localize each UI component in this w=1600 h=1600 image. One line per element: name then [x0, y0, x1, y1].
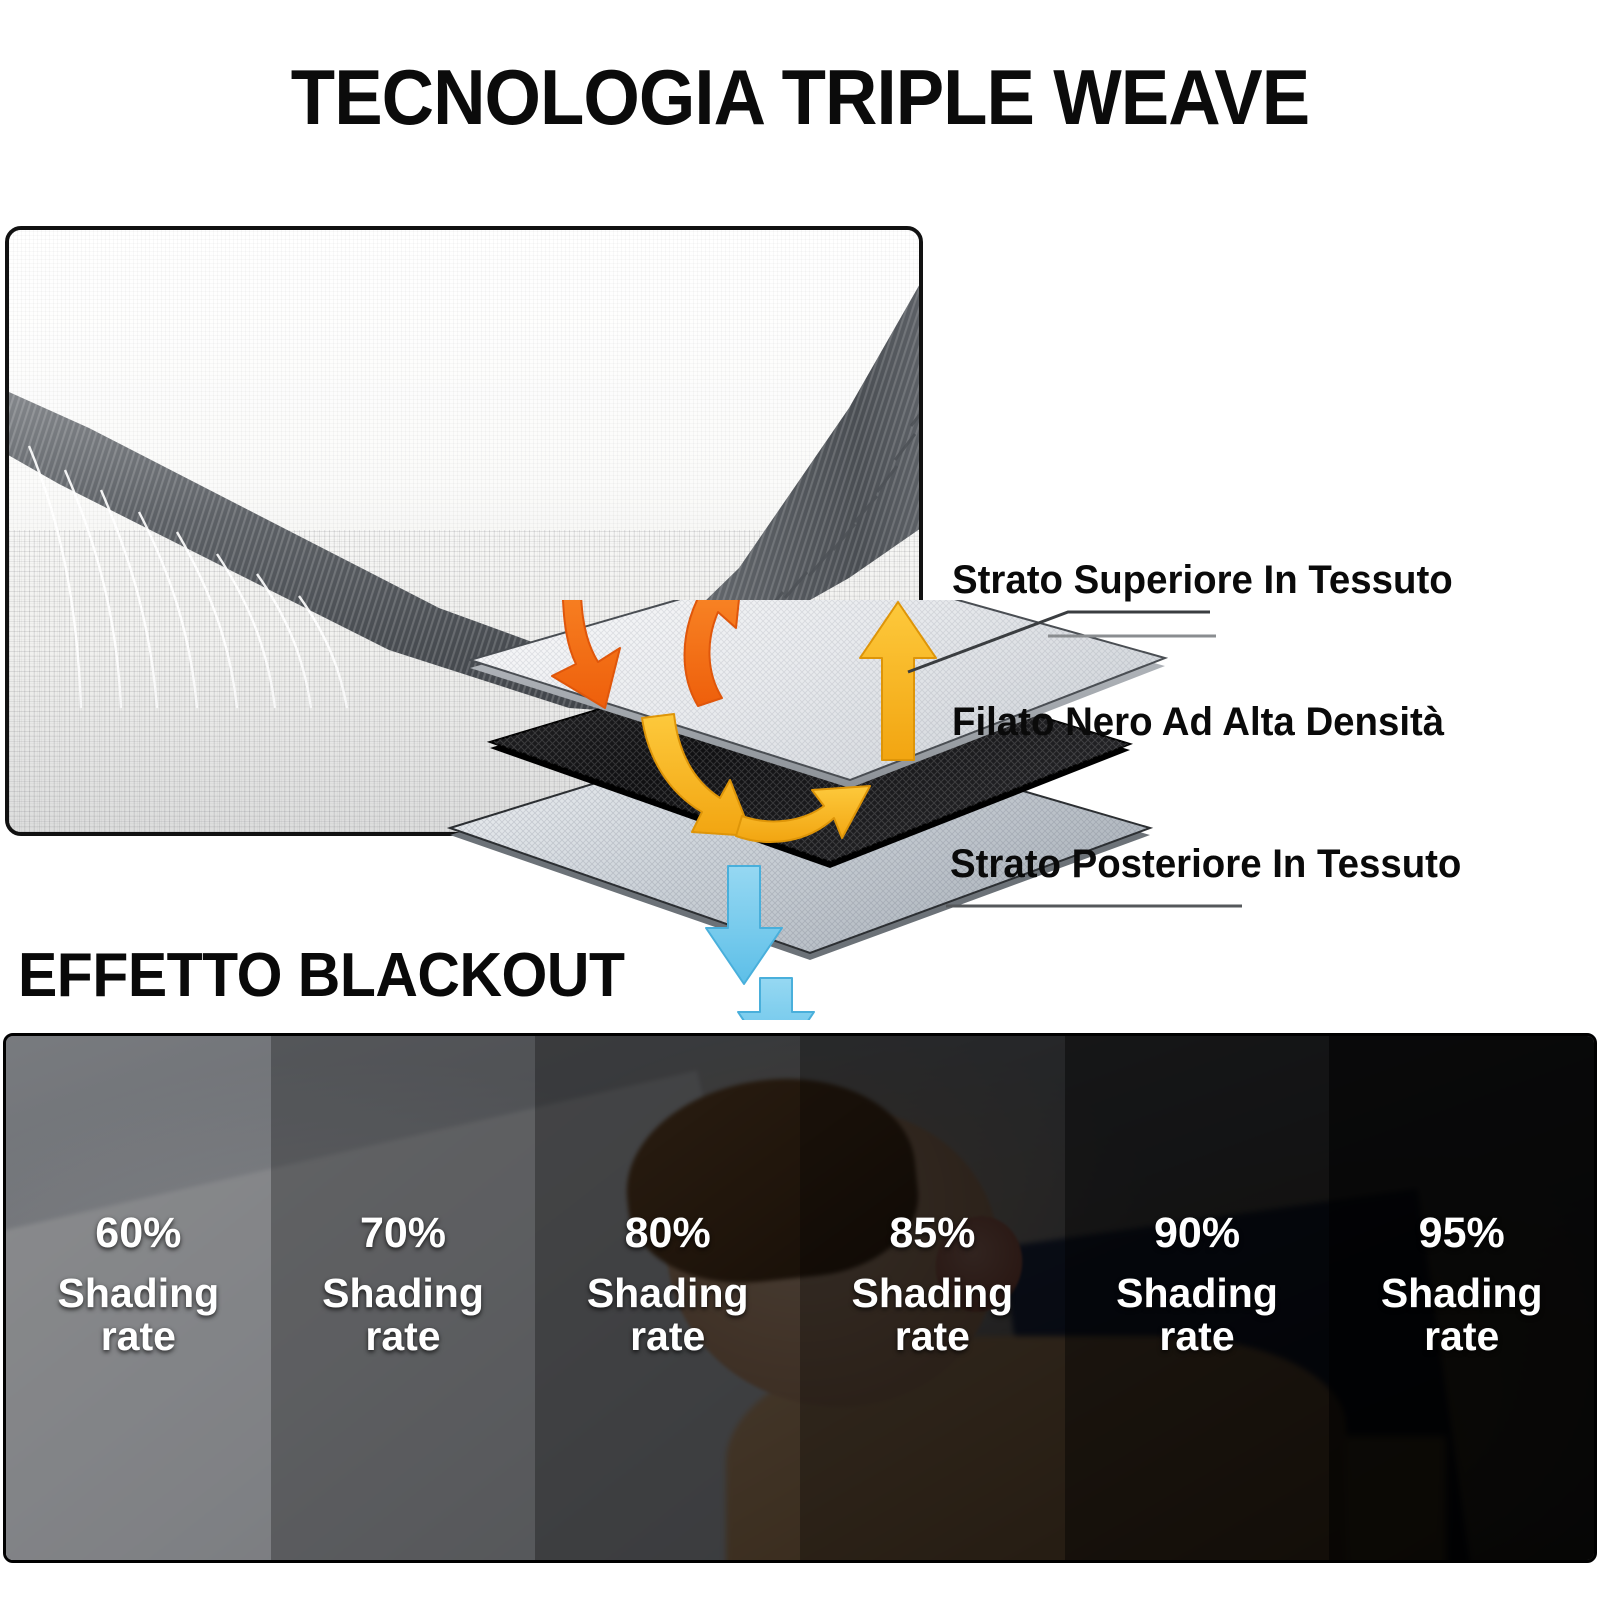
shading-word: Shading	[535, 1272, 800, 1315]
shading-panel-95: 95%Shadingrate	[1329, 1036, 1594, 1560]
shading-label-group: 95%Shadingrate	[1329, 1211, 1594, 1358]
shading-label-group: 85%Shadingrate	[800, 1211, 1065, 1358]
shading-rate-columns: 60%Shadingrate70%Shadingrate80%Shadingra…	[6, 1036, 1594, 1560]
label-middle-layer: Filato Nero Ad Alta Densità	[952, 700, 1444, 745]
shading-panel-70: 70%Shadingrate	[271, 1036, 536, 1560]
shading-word: Shading	[271, 1272, 536, 1315]
rate-word: rate	[1329, 1315, 1594, 1358]
rate-word: rate	[6, 1315, 271, 1358]
shading-word: Shading	[6, 1272, 271, 1315]
label-top-layer: Strato Superiore In Tessuto	[952, 558, 1453, 603]
blackout-comparison-strip: 60%Shadingrate70%Shadingrate80%Shadingra…	[3, 1033, 1597, 1563]
rate-word: rate	[800, 1315, 1065, 1358]
rate-word: rate	[271, 1315, 536, 1358]
shading-word: Shading	[1065, 1272, 1330, 1315]
section-title-blackout: EFFETTO BLACKOUT	[18, 940, 624, 1011]
infographic-root: TECNOLOGIA TRIPLE WEAVE	[0, 0, 1600, 1600]
shading-panel-85: 85%Shadingrate	[800, 1036, 1065, 1560]
shading-word: Shading	[1329, 1272, 1594, 1315]
shading-percent: 80%	[535, 1211, 800, 1256]
label-bottom-layer: Strato Posteriore In Tessuto	[950, 842, 1461, 887]
page-title: TECNOLOGIA TRIPLE WEAVE	[56, 52, 1544, 143]
leader-line-bottom-layer	[930, 880, 1270, 940]
shading-panel-60: 60%Shadingrate	[6, 1036, 271, 1560]
rate-word: rate	[535, 1315, 800, 1358]
shading-panel-80: 80%Shadingrate	[535, 1036, 800, 1560]
shading-word: Shading	[800, 1272, 1065, 1315]
shading-label-group: 60%Shadingrate	[6, 1211, 271, 1358]
shading-percent: 60%	[6, 1211, 271, 1256]
shading-percent: 95%	[1329, 1211, 1594, 1256]
shading-percent: 90%	[1065, 1211, 1330, 1256]
shading-panel-90: 90%Shadingrate	[1065, 1036, 1330, 1560]
shading-label-group: 80%Shadingrate	[535, 1211, 800, 1358]
shading-percent: 85%	[800, 1211, 1065, 1256]
rate-word: rate	[1065, 1315, 1330, 1358]
shading-percent: 70%	[271, 1211, 536, 1256]
shading-label-group: 70%Shadingrate	[271, 1211, 536, 1358]
shading-label-group: 90%Shadingrate	[1065, 1211, 1330, 1358]
